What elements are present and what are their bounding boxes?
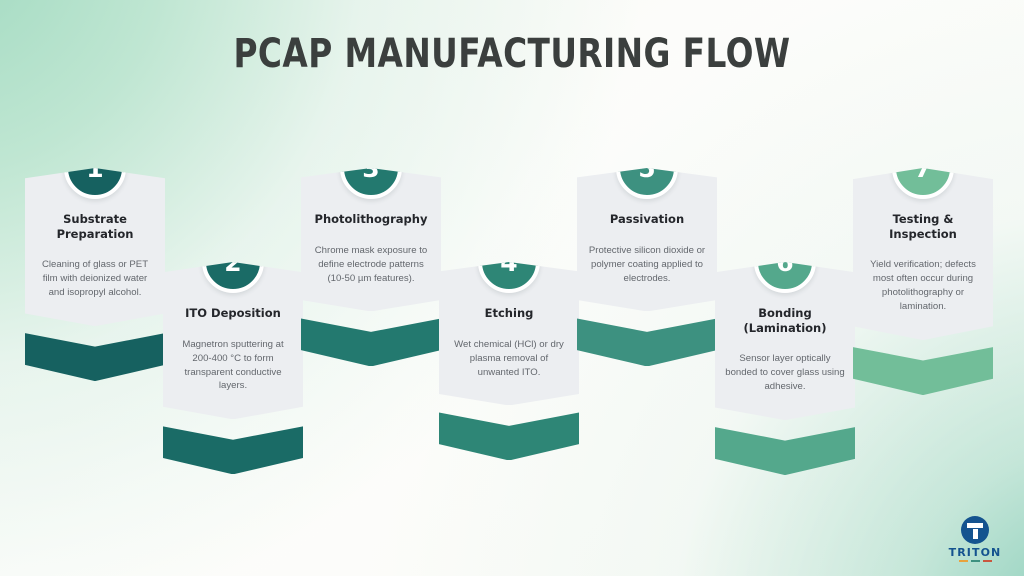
step-3-title: Photolithography: [310, 212, 432, 227]
step-7-number-badge: 7: [892, 137, 954, 199]
step-2-title: ITO Deposition: [172, 306, 294, 321]
step-2-arrow-icon: [163, 426, 303, 474]
step-3-number-badge: 3: [340, 137, 402, 199]
step-6-title: Bonding (Lamination): [724, 306, 846, 335]
step-card-2: 2 ITO Deposition Magnetron sputtering at…: [163, 262, 303, 474]
step-3-description: Chrome mask exposure to define electrode…: [310, 244, 432, 286]
step-2-panel: 2 ITO Deposition Magnetron sputtering at…: [163, 262, 303, 419]
brand-name: TRITON: [948, 547, 1002, 558]
step-1-arrow-icon: [25, 333, 165, 381]
page-title: PCAP MANUFACTURING FLOW: [92, 31, 932, 77]
step-3-arrow-icon: [301, 318, 441, 366]
step-7-title: Testing & Inspection: [862, 212, 984, 241]
step-3-panel: 3 Photolithography Chrome mask exposure …: [301, 168, 441, 311]
step-2-description: Magnetron sputtering at 200-400 °C to fo…: [172, 338, 294, 394]
brand-dash-2: [971, 560, 980, 562]
step-4-panel: 4 Etching Wet chemical (HCl) or dry plas…: [439, 262, 579, 405]
step-4-arrow-icon: [439, 412, 579, 460]
step-5-arrow-icon: [577, 318, 717, 366]
step-1-title: Substrate Preparation: [34, 212, 156, 241]
triton-t-bar: [967, 523, 983, 528]
brand-dash-3: [983, 560, 992, 562]
brand-accent-dashes: [948, 560, 1002, 562]
step-2-number-badge: 2: [202, 231, 264, 293]
infographic-canvas: PCAP MANUFACTURING FLOW 1 Substrate Prep…: [0, 0, 1024, 576]
step-5-title: Passivation: [586, 212, 708, 227]
step-1-description: Cleaning of glass or PET film with deion…: [34, 258, 156, 300]
step-7-panel: 7 Testing & Inspection Yield verificatio…: [853, 168, 993, 340]
step-card-1: 1 Substrate Preparation Cleaning of glas…: [25, 168, 165, 381]
step-4-number-badge: 4: [478, 231, 540, 293]
triton-t-stem: [973, 529, 978, 539]
step-5-panel: 5 Passivation Protective silicon dioxide…: [577, 168, 717, 311]
step-1-panel: 1 Substrate Preparation Cleaning of glas…: [25, 168, 165, 326]
step-card-3: 3 Photolithography Chrome mask exposure …: [301, 168, 441, 366]
brand-dash-1: [959, 560, 968, 562]
step-5-description: Protective silicon dioxide or polymer co…: [586, 244, 708, 286]
step-card-4: 4 Etching Wet chemical (HCl) or dry plas…: [439, 262, 579, 460]
step-card-5: 5 Passivation Protective silicon dioxide…: [577, 168, 717, 366]
step-6-panel: 6 Bonding (Lamination) Sensor layer opti…: [715, 262, 855, 420]
step-5-number-badge: 5: [616, 137, 678, 199]
step-6-description: Sensor layer optically bonded to cover g…: [724, 352, 846, 394]
step-card-6: 6 Bonding (Lamination) Sensor layer opti…: [715, 262, 855, 475]
step-7-arrow-icon: [853, 347, 993, 395]
step-6-arrow-icon: [715, 427, 855, 475]
step-1-number-badge: 1: [64, 137, 126, 199]
step-card-7: 7 Testing & Inspection Yield verificatio…: [853, 168, 993, 395]
step-6-number-badge: 6: [754, 231, 816, 293]
step-4-description: Wet chemical (HCl) or dry plasma removal…: [448, 338, 570, 380]
step-7-description: Yield verification; defects most often o…: [862, 258, 984, 314]
brand-logo: TRITON: [948, 516, 1002, 562]
triton-mark-icon: [961, 516, 989, 544]
step-4-title: Etching: [448, 306, 570, 321]
